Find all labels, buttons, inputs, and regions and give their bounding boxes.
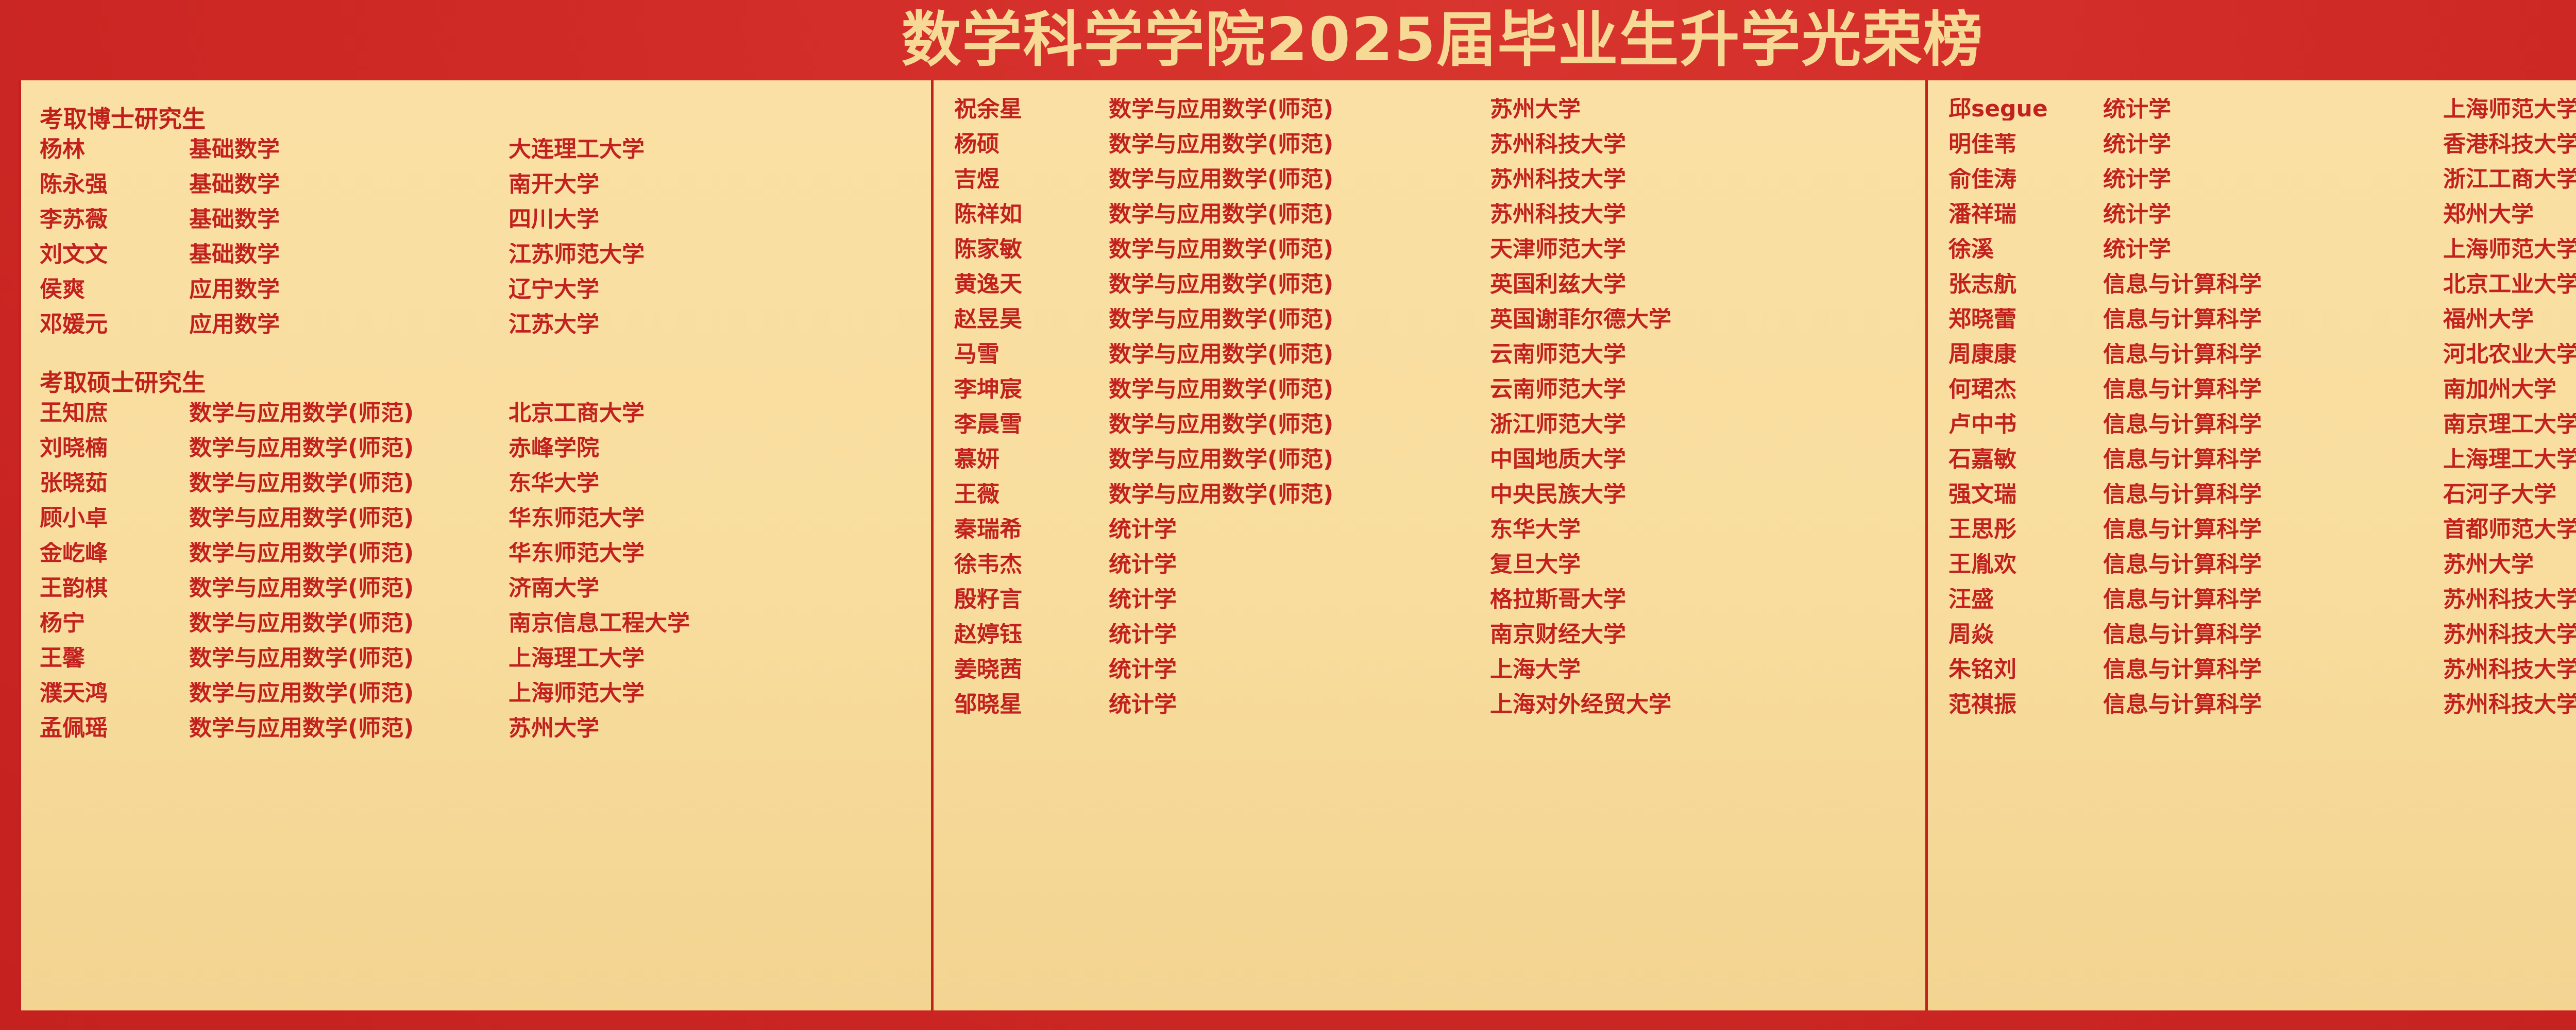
- student-major: 基础数学: [189, 173, 509, 196]
- table-row: 杨硕数学与应用数学(师范)苏州科技大学: [934, 133, 1925, 168]
- admitted-school: 北京工业大学: [2443, 273, 2576, 296]
- table-row: 石嘉敏信息与计算科学上海理工大学: [1928, 448, 2576, 483]
- admitted-school: 南京财经大学: [1490, 623, 1912, 646]
- table-row: 汪盛信息与计算科学苏州科技大学: [1928, 588, 2576, 623]
- student-major: 应用数学: [189, 278, 509, 301]
- student-major: 基础数学: [189, 208, 509, 231]
- admitted-school: 南京理工大学: [2443, 413, 2576, 436]
- student-name: 张志航: [1948, 273, 2103, 296]
- student-major: 数学与应用数学(师范): [1109, 308, 1490, 331]
- column-2-top-pad: [934, 93, 1925, 98]
- student-major: 数学与应用数学(师范): [189, 472, 509, 494]
- table-row: 王薇数学与应用数学(师范)中央民族大学: [934, 483, 1925, 518]
- student-name: 李晨雪: [954, 413, 1109, 436]
- table-row: 潘祥瑞统计学郑州大学: [1928, 203, 2576, 238]
- student-major: 信息与计算科学: [2103, 483, 2443, 506]
- table-row: 殷籽言统计学格拉斯哥大学: [934, 588, 1925, 623]
- student-name: 刘文文: [40, 243, 189, 266]
- student-name: 王薇: [954, 483, 1109, 506]
- table-row: 俞佳涛统计学浙江工商大学: [1928, 168, 2576, 203]
- admitted-school: 苏州大学: [509, 717, 910, 740]
- student-name: 王韵棋: [40, 577, 189, 599]
- student-major: 数学与应用数学(师范): [1109, 413, 1490, 436]
- table-row: 张志航信息与计算科学北京工业大学: [1928, 273, 2576, 308]
- student-name: 顾小卓: [40, 507, 189, 529]
- student-name: 强文瑞: [1948, 483, 2103, 506]
- admitted-school: 云南师范大学: [1490, 378, 1912, 401]
- table-row: 姜晓茜统计学上海大学: [934, 658, 1925, 693]
- student-name: 吉煜: [954, 168, 1109, 191]
- table-row: 吉煜数学与应用数学(师范)苏州科技大学: [934, 168, 1925, 203]
- table-row: 卢中书信息与计算科学南京理工大学: [1928, 413, 2576, 448]
- student-major: 数学与应用数学(师范): [189, 402, 509, 424]
- student-major: 数学与应用数学(师范): [1109, 203, 1490, 226]
- student-major: 统计学: [2103, 133, 2443, 156]
- student-major: 统计学: [1109, 553, 1490, 576]
- table-row: 顾小卓数学与应用数学(师范)华东师范大学: [21, 507, 931, 542]
- table-row: 王知庶数学与应用数学(师范)北京工商大学: [21, 402, 931, 437]
- student-major: 数学与应用数学(师范): [1109, 483, 1490, 506]
- student-name: 王馨: [40, 647, 189, 669]
- column-3: 邱segue统计学上海师范大学明佳苇统计学香港科技大学俞佳涛统计学浙江工商大学潘…: [1928, 80, 2576, 1010]
- admitted-school: 苏州科技大学: [1490, 133, 1912, 156]
- student-name: 赵婷钰: [954, 623, 1109, 646]
- table-row: 强文瑞信息与计算科学石河子大学: [1928, 483, 2576, 518]
- admitted-school: 上海师范大学: [2443, 98, 2576, 121]
- table-row: 李苏薇基础数学四川大学: [21, 208, 931, 243]
- admitted-school: 苏州大学: [2443, 553, 2576, 576]
- admitted-school: 大连理工大学: [509, 138, 910, 161]
- student-name: 杨宁: [40, 612, 189, 634]
- student-major: 统计学: [1109, 518, 1490, 541]
- student-name: 祝余星: [954, 98, 1109, 121]
- student-name: 汪盛: [1948, 588, 2103, 611]
- student-major: 信息与计算科学: [2103, 343, 2443, 366]
- table-row: 马雪数学与应用数学(师范)云南师范大学: [934, 343, 1925, 378]
- student-major: 数学与应用数学(师范): [189, 542, 509, 564]
- admitted-school: 福州大学: [2443, 308, 2576, 331]
- table-row: 王韵棋数学与应用数学(师范)济南大学: [21, 577, 931, 612]
- table-row: 邹晓星统计学上海对外经贸大学: [934, 693, 1925, 728]
- table-row: 杨宁数学与应用数学(师范)南京信息工程大学: [21, 612, 931, 647]
- student-major: 数学与应用数学(师范): [189, 717, 509, 740]
- student-name: 邹晓星: [954, 693, 1109, 716]
- student-major: 数学与应用数学(师范): [1109, 448, 1490, 471]
- admitted-school: 浙江工商大学: [2443, 168, 2576, 191]
- student-major: 数学与应用数学(师范): [1109, 238, 1490, 261]
- student-major: 基础数学: [189, 138, 509, 161]
- admitted-school: 上海理工大学: [509, 647, 910, 669]
- poster-header: 数学科学学院2025届毕业生升学光荣榜: [0, 0, 2576, 80]
- student-major: 信息与计算科学: [2103, 658, 2443, 681]
- table-row: 周焱信息与计算科学苏州科技大学: [1928, 623, 2576, 658]
- table-row: 祝余星数学与应用数学(师范)苏州大学: [934, 98, 1925, 133]
- table-row: 濮天鸿数学与应用数学(师范)上海师范大学: [21, 682, 931, 717]
- student-name: 王胤欢: [1948, 553, 2103, 576]
- student-name: 殷籽言: [954, 588, 1109, 611]
- column-1-doctoral-rows: 杨林基础数学大连理工大学陈永强基础数学南开大学李苏薇基础数学四川大学刘文文基础数…: [21, 138, 931, 348]
- admitted-school: 苏州科技大学: [2443, 658, 2576, 681]
- table-row: 明佳苇统计学香港科技大学: [1928, 133, 2576, 168]
- column-2: 祝余星数学与应用数学(师范)苏州大学杨硕数学与应用数学(师范)苏州科技大学吉煜数…: [934, 80, 1928, 1010]
- student-major: 数学与应用数学(师范): [189, 682, 509, 705]
- admitted-school: 苏州大学: [1490, 98, 1912, 121]
- admitted-school: 苏州科技大学: [1490, 168, 1912, 191]
- student-name: 金屹峰: [40, 542, 189, 564]
- student-name: 秦瑞希: [954, 518, 1109, 541]
- admitted-school: 华东师范大学: [509, 507, 910, 529]
- student-name: 潘祥瑞: [1948, 203, 2103, 226]
- table-row: 范祺振信息与计算科学苏州科技大学: [1928, 693, 2576, 728]
- student-major: 信息与计算科学: [2103, 308, 2443, 331]
- student-name: 张晓茹: [40, 472, 189, 494]
- table-row: 何珺杰信息与计算科学南加州大学: [1928, 378, 2576, 413]
- admitted-school: 中国地质大学: [1490, 448, 1912, 471]
- student-name: 郑晓蕾: [1948, 308, 2103, 331]
- student-name: 陈永强: [40, 173, 189, 196]
- table-row: 王思彤信息与计算科学首都师范大学: [1928, 518, 2576, 553]
- table-row: 朱铭刘信息与计算科学苏州科技大学: [1928, 658, 2576, 693]
- table-row: 张晓茹数学与应用数学(师范)东华大学: [21, 472, 931, 507]
- column-3-rows: 邱segue统计学上海师范大学明佳苇统计学香港科技大学俞佳涛统计学浙江工商大学潘…: [1928, 98, 2576, 728]
- admitted-school: 上海师范大学: [2443, 238, 2576, 261]
- student-major: 信息与计算科学: [2103, 553, 2443, 576]
- student-major: 信息与计算科学: [2103, 448, 2443, 471]
- admitted-school: 上海师范大学: [509, 682, 910, 705]
- admitted-school: 云南师范大学: [1490, 343, 1912, 366]
- admitted-school: 中央民族大学: [1490, 483, 1912, 506]
- table-row: 徐溪统计学上海师范大学: [1928, 238, 2576, 273]
- student-name: 慕妍: [954, 448, 1109, 471]
- student-name: 马雪: [954, 343, 1109, 366]
- admitted-school: 首都师范大学: [2443, 518, 2576, 541]
- student-major: 数学与应用数学(师范): [189, 612, 509, 634]
- page-title: 数学科学学院2025届毕业生升学光荣榜: [902, 10, 1984, 70]
- admitted-school: 辽宁大学: [509, 278, 910, 301]
- student-major: 数学与应用数学(师范): [1109, 98, 1490, 121]
- student-name: 朱铭刘: [1948, 658, 2103, 681]
- table-row: 赵昱昊数学与应用数学(师范)英国谢菲尔德大学: [934, 308, 1925, 343]
- student-name: 周康康: [1948, 343, 2103, 366]
- table-row: 金屹峰数学与应用数学(师范)华东师范大学: [21, 542, 931, 577]
- student-name: 孟佩瑶: [40, 717, 189, 740]
- student-major: 统计学: [1109, 693, 1490, 716]
- student-major: 统计学: [2103, 98, 2443, 121]
- admitted-school: 东华大学: [1490, 518, 1912, 541]
- table-row: 王胤欢信息与计算科学苏州大学: [1928, 553, 2576, 588]
- student-major: 数学与应用数学(师范): [1109, 133, 1490, 156]
- student-major: 数学与应用数学(师范): [189, 647, 509, 669]
- admitted-school: 苏州科技大学: [1490, 203, 1912, 226]
- student-major: 信息与计算科学: [2103, 623, 2443, 646]
- student-name: 邱segue: [1948, 98, 2103, 121]
- table-row: 陈祥如数学与应用数学(师范)苏州科技大学: [934, 203, 1925, 238]
- table-row: 王馨数学与应用数学(师范)上海理工大学: [21, 647, 931, 682]
- student-name: 范祺振: [1948, 693, 2103, 716]
- student-major: 统计学: [1109, 623, 1490, 646]
- student-major: 信息与计算科学: [2103, 588, 2443, 611]
- admitted-school: 河北农业大学: [2443, 343, 2576, 366]
- admitted-school: 复旦大学: [1490, 553, 1912, 576]
- student-major: 统计学: [1109, 588, 1490, 611]
- admitted-school: 石河子大学: [2443, 483, 2576, 506]
- column-2-rows: 祝余星数学与应用数学(师范)苏州大学杨硕数学与应用数学(师范)苏州科技大学吉煜数…: [934, 98, 1925, 728]
- admitted-school: 上海大学: [1490, 658, 1912, 681]
- admitted-school: 郑州大学: [2443, 203, 2576, 226]
- student-name: 王思彤: [1948, 518, 2103, 541]
- student-name: 赵昱昊: [954, 308, 1109, 331]
- honor-board: 考取博士研究生 杨林基础数学大连理工大学陈永强基础数学南开大学李苏薇基础数学四川…: [19, 80, 2576, 1010]
- honor-roll-poster: 数学科学学院2025届毕业生升学光荣榜 考取博士研究生 杨林基础数学大连理工大学…: [0, 0, 2576, 1030]
- table-row: 李晨雪数学与应用数学(师范)浙江师范大学: [934, 413, 1925, 448]
- admitted-school: 济南大学: [509, 577, 910, 599]
- student-major: 数学与应用数学(师范): [1109, 273, 1490, 296]
- student-major: 信息与计算科学: [2103, 273, 2443, 296]
- admitted-school: 天津师范大学: [1490, 238, 1912, 261]
- student-name: 黄逸天: [954, 273, 1109, 296]
- admitted-school: 北京工商大学: [509, 402, 910, 424]
- student-name: 姜晓茜: [954, 658, 1109, 681]
- admitted-school: 赤峰学院: [509, 437, 910, 459]
- table-row: 侯爽应用数学辽宁大学: [21, 278, 931, 313]
- student-major: 数学与应用数学(师范): [1109, 378, 1490, 401]
- student-major: 应用数学: [189, 313, 509, 336]
- table-row: 陈家敏数学与应用数学(师范)天津师范大学: [934, 238, 1925, 273]
- column-1-top-pad: [21, 93, 931, 98]
- admitted-school: 苏州科技大学: [2443, 693, 2576, 716]
- student-name: 明佳苇: [1948, 133, 2103, 156]
- table-row: 徐韦杰统计学复旦大学: [934, 553, 1925, 588]
- student-name: 杨硕: [954, 133, 1109, 156]
- table-row: 李坤宸数学与应用数学(师范)云南师范大学: [934, 378, 1925, 413]
- admitted-school: 江苏师范大学: [509, 243, 910, 266]
- student-name: 徐溪: [1948, 238, 2103, 261]
- student-name: 何珺杰: [1948, 378, 2103, 401]
- table-row: 孟佩瑶数学与应用数学(师范)苏州大学: [21, 717, 931, 752]
- student-major: 数学与应用数学(师范): [189, 577, 509, 599]
- table-row: 黄逸天数学与应用数学(师范)英国利兹大学: [934, 273, 1925, 308]
- admitted-school: 上海对外经贸大学: [1490, 693, 1912, 716]
- student-major: 信息与计算科学: [2103, 518, 2443, 541]
- admitted-school: 英国利兹大学: [1490, 273, 1912, 296]
- section-heading-doctoral: 考取博士研究生: [21, 98, 931, 138]
- student-major: 数学与应用数学(师范): [189, 437, 509, 459]
- student-major: 信息与计算科学: [2103, 413, 2443, 436]
- table-row: 慕妍数学与应用数学(师范)中国地质大学: [934, 448, 1925, 483]
- student-name: 卢中书: [1948, 413, 2103, 436]
- student-name: 王知庶: [40, 402, 189, 424]
- student-name: 陈家敏: [954, 238, 1109, 261]
- table-row: 邓媛元应用数学江苏大学: [21, 313, 931, 348]
- table-row: 刘文文基础数学江苏师范大学: [21, 243, 931, 278]
- student-name: 侯爽: [40, 278, 189, 301]
- student-name: 杨林: [40, 138, 189, 161]
- table-row: 赵婷钰统计学南京财经大学: [934, 623, 1925, 658]
- table-row: 邱segue统计学上海师范大学: [1928, 98, 2576, 133]
- student-major: 统计学: [2103, 203, 2443, 226]
- student-major: 信息与计算科学: [2103, 378, 2443, 401]
- student-major: 统计学: [1109, 658, 1490, 681]
- admitted-school: 苏州科技大学: [2443, 588, 2576, 611]
- admitted-school: 南加州大学: [2443, 378, 2576, 401]
- student-name: 俞佳涛: [1948, 168, 2103, 191]
- student-name: 李苏薇: [40, 208, 189, 231]
- admitted-school: 苏州科技大学: [2443, 623, 2576, 646]
- student-major: 统计学: [2103, 168, 2443, 191]
- student-major: 数学与应用数学(师范): [1109, 168, 1490, 191]
- admitted-school: 华东师范大学: [509, 542, 910, 564]
- table-row: 陈永强基础数学南开大学: [21, 173, 931, 208]
- section-heading-master: 考取硕士研究生: [21, 362, 931, 402]
- admitted-school: 四川大学: [509, 208, 910, 231]
- student-name: 徐韦杰: [954, 553, 1109, 576]
- student-name: 陈祥如: [954, 203, 1109, 226]
- table-row: 杨林基础数学大连理工大学: [21, 138, 931, 173]
- admitted-school: 南开大学: [509, 173, 910, 196]
- student-name: 周焱: [1948, 623, 2103, 646]
- table-row: 秦瑞希统计学东华大学: [934, 518, 1925, 553]
- admitted-school: 浙江师范大学: [1490, 413, 1912, 436]
- student-major: 基础数学: [189, 243, 509, 266]
- student-name: 刘晓楠: [40, 437, 189, 459]
- column-1-spacer: [21, 348, 931, 362]
- admitted-school: 东华大学: [509, 472, 910, 494]
- student-name: 李坤宸: [954, 378, 1109, 401]
- student-major: 数学与应用数学(师范): [189, 507, 509, 529]
- student-name: 濮天鸿: [40, 682, 189, 705]
- student-name: 邓媛元: [40, 313, 189, 336]
- admitted-school: 格拉斯哥大学: [1490, 588, 1912, 611]
- student-name: 石嘉敏: [1948, 448, 2103, 471]
- student-major: 数学与应用数学(师范): [1109, 343, 1490, 366]
- column-1: 考取博士研究生 杨林基础数学大连理工大学陈永强基础数学南开大学李苏薇基础数学四川…: [19, 80, 934, 1010]
- admitted-school: 上海理工大学: [2443, 448, 2576, 471]
- column-3-top-pad: [1928, 93, 2576, 98]
- admitted-school: 南京信息工程大学: [509, 612, 910, 634]
- admitted-school: 江苏大学: [509, 313, 910, 336]
- column-1-master-rows: 王知庶数学与应用数学(师范)北京工商大学刘晓楠数学与应用数学(师范)赤峰学院张晓…: [21, 402, 931, 752]
- student-major: 信息与计算科学: [2103, 693, 2443, 716]
- table-row: 郑晓蕾信息与计算科学福州大学: [1928, 308, 2576, 343]
- table-row: 周康康信息与计算科学河北农业大学: [1928, 343, 2576, 378]
- student-major: 统计学: [2103, 238, 2443, 261]
- admitted-school: 英国谢菲尔德大学: [1490, 308, 1912, 331]
- admitted-school: 香港科技大学: [2443, 133, 2576, 156]
- table-row: 刘晓楠数学与应用数学(师范)赤峰学院: [21, 437, 931, 472]
